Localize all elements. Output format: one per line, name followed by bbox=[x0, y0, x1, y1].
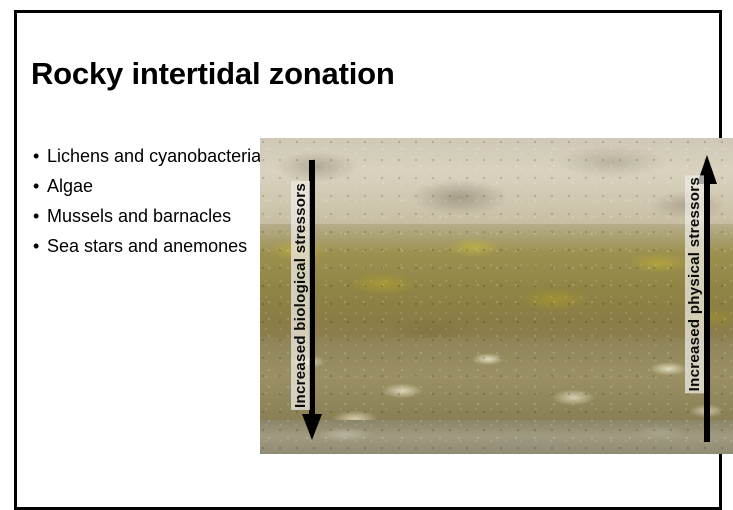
list-item-label: Sea stars and anemones bbox=[47, 236, 247, 256]
bullet-marker-icon: • bbox=[33, 146, 39, 167]
caption-increased-physical-stressors: Increased physical stressors bbox=[685, 175, 704, 393]
list-item: • Sea stars and anemones bbox=[31, 236, 267, 257]
intertidal-zonation-photo bbox=[260, 138, 733, 454]
photo-texture-overlay bbox=[260, 138, 733, 454]
list-item: • Mussels and barnacles bbox=[31, 206, 267, 227]
slide-frame: Rocky intertidal zonation • Lichens and … bbox=[14, 10, 722, 510]
list-item: • Lichens and cyanobacteria bbox=[31, 146, 267, 167]
list-item: • Algae bbox=[31, 176, 267, 197]
bullet-marker-icon: • bbox=[33, 236, 39, 257]
bullet-marker-icon: • bbox=[33, 206, 39, 227]
list-item-label: Lichens and cyanobacteria bbox=[47, 146, 261, 166]
caption-increased-biological-stressors: Increased biological stressors bbox=[291, 181, 310, 410]
list-item-label: Algae bbox=[47, 176, 93, 196]
bullet-marker-icon: • bbox=[33, 176, 39, 197]
list-item-label: Mussels and barnacles bbox=[47, 206, 231, 226]
page-title: Rocky intertidal zonation bbox=[31, 56, 395, 92]
bullet-list: • Lichens and cyanobacteria • Algae • Mu… bbox=[31, 146, 267, 266]
